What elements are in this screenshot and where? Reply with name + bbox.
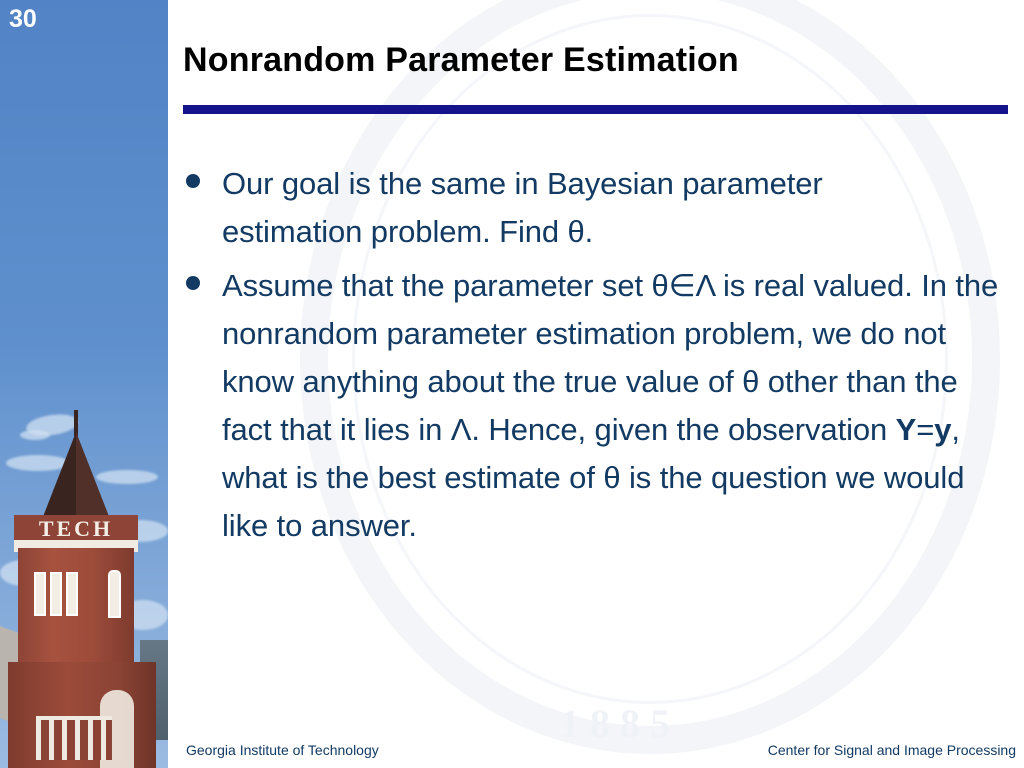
bullet-dot-icon (186, 276, 200, 290)
slide-title: Nonrandom Parameter Estimation (183, 41, 1009, 80)
page-number: 30 (9, 5, 37, 34)
observation-value-y: y (934, 412, 951, 447)
footer-center-name: Center for Signal and Image Processing (768, 742, 1016, 758)
tower-window (108, 570, 121, 618)
tower-window (34, 572, 46, 616)
bullet-1-text: Our goal is the same in Bayesian paramet… (222, 160, 832, 256)
footer-institution: Georgia Institute of Technology (186, 742, 379, 758)
slide-body: Our goal is the same in Bayesian paramet… (186, 160, 1012, 556)
bullet-item-2: Assume that the parameter set θ∈Λ is rea… (186, 262, 1012, 550)
building-balustrade (36, 716, 112, 760)
bullet-2-text: Assume that the parameter set θ∈Λ is rea… (222, 262, 1012, 550)
bullet-dot-icon (186, 174, 200, 188)
tower-window (66, 572, 78, 616)
title-divider-rule (183, 105, 1008, 114)
bullet-item-1: Our goal is the same in Bayesian paramet… (186, 160, 1012, 256)
sidebar-photo-strip: TECH 30 (0, 0, 168, 768)
tech-tower-lettering: TECH (14, 515, 138, 543)
equals-sign: = (916, 412, 934, 447)
bullet-2-segment: Assume that the parameter set θ∈Λ is rea… (222, 268, 998, 447)
seal-watermark-year: 1885 (560, 700, 680, 747)
slide: TECH 30 1885 Nonrandom Parameter Estimat… (0, 0, 1024, 768)
observation-vector-Y: Y (896, 412, 917, 447)
tower-window (50, 572, 62, 616)
